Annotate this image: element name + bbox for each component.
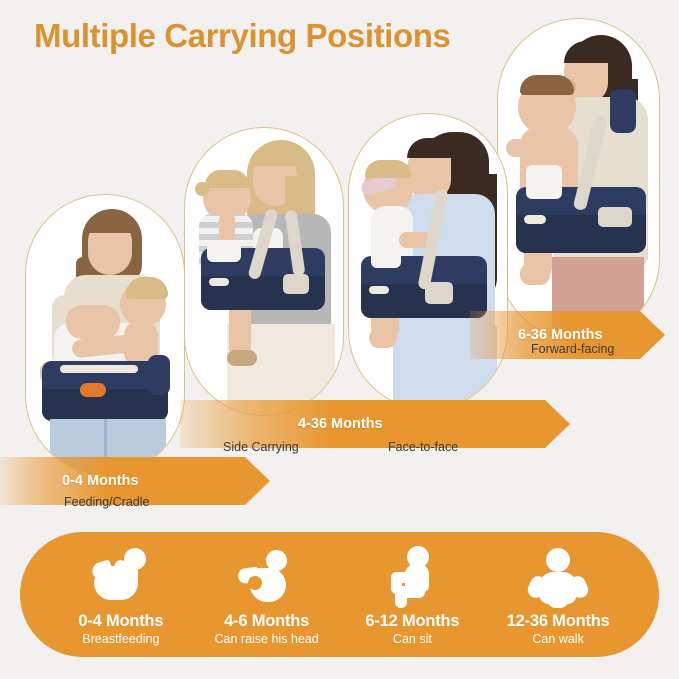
baby-sitting-icon bbox=[381, 546, 443, 608]
arrow-sublabel-forward-facing: Forward-facing bbox=[531, 342, 614, 356]
arrow-sublabel-face-to-face: Face-to-face bbox=[388, 440, 458, 454]
milestone-title: 6-12 Months bbox=[340, 612, 486, 631]
arrow-head bbox=[545, 400, 570, 448]
photo-face-to-face bbox=[349, 114, 507, 409]
milestone-breastfeeding: 0-4 Months Breastfeeding bbox=[48, 546, 194, 646]
milestone-sub: Can raise his head bbox=[194, 632, 340, 646]
milestone-title: 12-36 Months bbox=[485, 612, 631, 631]
milestone-sub: Can sit bbox=[340, 632, 486, 646]
baby-raising-head-icon bbox=[236, 546, 298, 608]
milestone-sub: Breastfeeding bbox=[48, 632, 194, 646]
baby-lying-breastfeeding-icon bbox=[90, 546, 152, 608]
panel-feeding-cradle bbox=[25, 194, 185, 475]
milestone-title: 4-6 Months bbox=[194, 612, 340, 631]
arrow-sublabel-feeding-cradle: Feeding/Cradle bbox=[64, 495, 149, 509]
baby-standing-walking-icon bbox=[527, 546, 589, 608]
panel-face-to-face bbox=[348, 113, 508, 410]
panel-side-carrying bbox=[184, 127, 344, 416]
milestone-can-sit: 6-12 Months Can sit bbox=[340, 546, 486, 646]
milestone-raise-head: 4-6 Months Can raise his head bbox=[194, 546, 340, 646]
arrow-label: 4-36 Months bbox=[298, 416, 383, 432]
milestones-bar: 0-4 Months Breastfeeding 4-6 Months Can … bbox=[20, 532, 659, 657]
arrow-head bbox=[640, 311, 665, 359]
arrow-sublabel-side-carrying: Side Carrying bbox=[223, 440, 299, 454]
arrow-label: 6-36 Months bbox=[518, 327, 603, 343]
photo-forward-facing bbox=[498, 19, 659, 339]
photo-side-carrying bbox=[185, 128, 343, 415]
milestone-title: 0-4 Months bbox=[48, 612, 194, 631]
infographic-root: Multiple Carrying Positions bbox=[0, 0, 679, 679]
milestone-sub: Can walk bbox=[485, 632, 631, 646]
panel-forward-facing bbox=[497, 18, 660, 340]
arrow-head bbox=[245, 457, 270, 505]
arrow-label: 0-4 Months bbox=[62, 473, 139, 489]
page-title: Multiple Carrying Positions bbox=[34, 17, 450, 55]
milestone-can-walk: 12-36 Months Can walk bbox=[485, 546, 631, 646]
photo-feeding-cradle bbox=[26, 195, 184, 474]
